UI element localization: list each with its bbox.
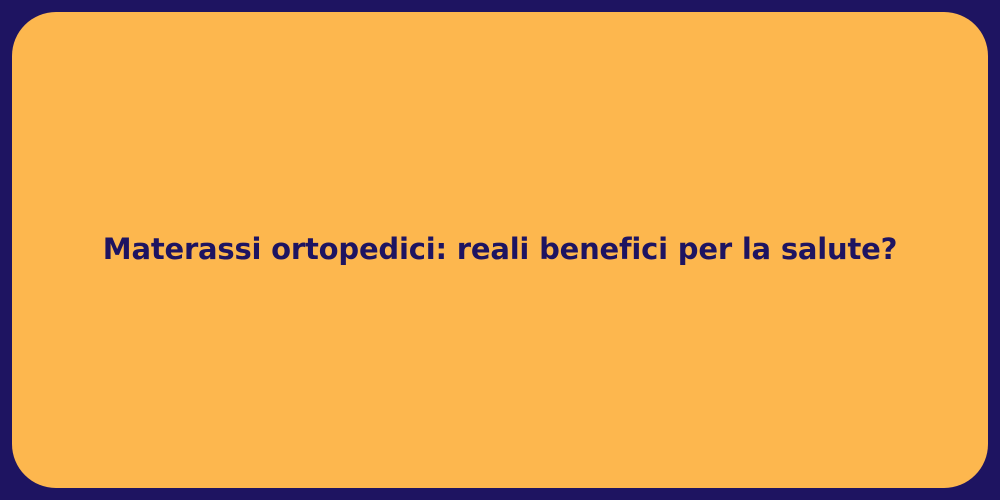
page-background: Materassi ortopedici: reali benefici per… xyxy=(0,0,1000,500)
content-card: Materassi ortopedici: reali benefici per… xyxy=(12,12,988,488)
page-title: Materassi ortopedici: reali benefici per… xyxy=(103,231,897,269)
card-content: Materassi ortopedici: reali benefici per… xyxy=(12,231,988,269)
